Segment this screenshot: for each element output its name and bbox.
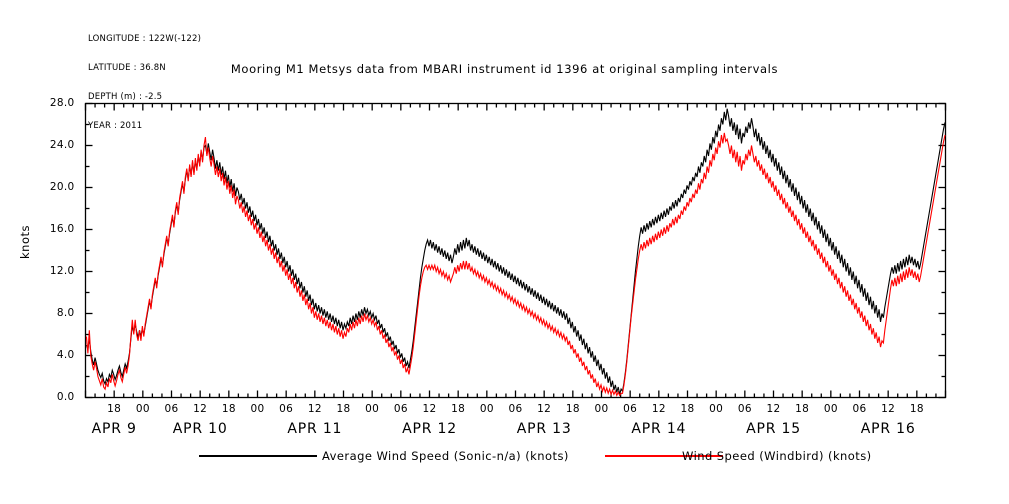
x-tick-label: 00 (472, 403, 502, 415)
x-day-label: APR 9 (69, 421, 159, 437)
x-tick-label: 00 (816, 403, 846, 415)
y-tick-label: 20.0 (39, 181, 75, 193)
legend-swatch (199, 455, 317, 457)
x-tick-label: 06 (845, 403, 875, 415)
x-tick-label: 00 (701, 403, 731, 415)
y-tick-label: 28.0 (39, 97, 75, 109)
x-tick-label: 00 (587, 403, 617, 415)
x-tick-label: 06 (501, 403, 531, 415)
x-tick-label: 12 (529, 403, 559, 415)
x-tick-label: 06 (271, 403, 301, 415)
x-tick-label: 00 (128, 403, 158, 415)
x-tick-label: 18 (673, 403, 703, 415)
x-day-label: APR 15 (729, 421, 819, 437)
x-day-label: APR 16 (843, 421, 933, 437)
x-tick-label: 18 (443, 403, 473, 415)
chart-legend: Average Wind Speed (Sonic-n/a) (knots)Wi… (0, 448, 1009, 470)
y-tick-label: 8.0 (39, 307, 75, 319)
x-tick-label: 06 (386, 403, 416, 415)
y-tick-label: 16.0 (39, 223, 75, 235)
x-tick-label: 18 (214, 403, 244, 415)
x-tick-label: 06 (157, 403, 187, 415)
y-tick-label: 24.0 (39, 139, 75, 151)
x-tick-label: 12 (415, 403, 445, 415)
x-day-label: APR 14 (614, 421, 704, 437)
x-day-label: APR 10 (155, 421, 245, 437)
legend-label: Average Wind Speed (Sonic-n/a) (knots) (322, 449, 569, 463)
x-tick-label: 12 (644, 403, 674, 415)
x-tick-label: 18 (329, 403, 359, 415)
y-axis-label: knots (18, 212, 32, 272)
chart-plot-area: knots 0.04.08.012.016.020.024.028.018000… (0, 0, 1009, 504)
x-tick-label: 12 (300, 403, 330, 415)
x-day-label: APR 13 (499, 421, 589, 437)
x-tick-label: 12 (873, 403, 903, 415)
legend-label: Wind Speed (Windbird) (knots) (682, 449, 872, 463)
series-line-1 (86, 133, 945, 396)
y-tick-label: 4.0 (39, 349, 75, 361)
x-day-label: APR 12 (385, 421, 475, 437)
x-tick-label: 18 (902, 403, 932, 415)
x-tick-label: 00 (243, 403, 273, 415)
x-tick-label: 06 (730, 403, 760, 415)
x-tick-label: 12 (759, 403, 789, 415)
x-tick-label: 12 (185, 403, 215, 415)
x-tick-label: 00 (357, 403, 387, 415)
x-tick-label: 18 (558, 403, 588, 415)
x-day-label: APR 11 (270, 421, 360, 437)
x-tick-label: 18 (787, 403, 817, 415)
y-tick-label: 12.0 (39, 265, 75, 277)
x-tick-label: 18 (99, 403, 129, 415)
y-tick-label: 0.0 (39, 391, 75, 403)
x-tick-label: 06 (615, 403, 645, 415)
series-line-0 (86, 109, 945, 395)
